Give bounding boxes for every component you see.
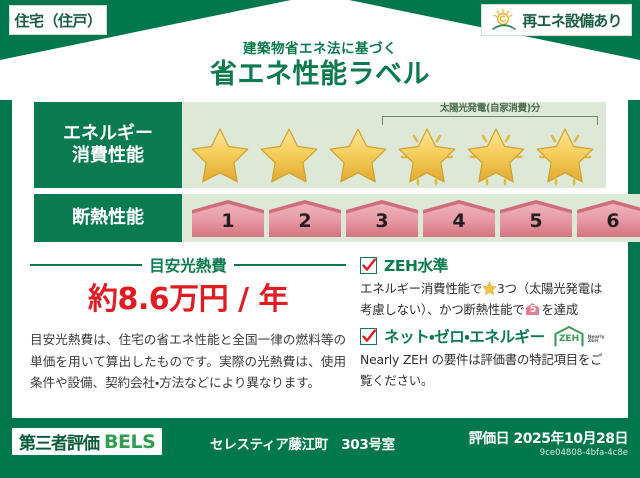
bels-logo: 第三者評価 BELS	[12, 428, 162, 455]
housing-type-badge: 住宅（住戸）	[9, 5, 107, 35]
zeh-mark-sub-line2: ZEH	[588, 339, 598, 344]
zeh-body-part1: エネルギー消費性能で	[360, 281, 482, 296]
evaluation-date: 評価日 2025年10月28日	[469, 428, 628, 448]
insulation-level-value: 2	[267, 198, 343, 238]
insulation-level-badge: 5	[498, 198, 574, 238]
label-title-sub: 建築物省エネ法に基づく	[0, 42, 640, 57]
energy-performance-label: 建築物省エネ法に基づく 省エネ性能ラベル 住宅（住戸） 再エネ設備あり	[0, 0, 640, 478]
zeh-mark-sublabel: Nearly ZEH	[588, 336, 605, 348]
zeh-body-part3: を達成	[541, 302, 578, 317]
checkmark-icon	[360, 328, 377, 345]
solar-annotation-label: 太陽光発電(自家消費)分	[382, 104, 598, 114]
bels-logo-jp: 第三者評価	[19, 429, 99, 454]
star-icon	[186, 124, 254, 186]
star-icon	[324, 124, 392, 186]
renewable-equipment-badge: 再エネ設備あり	[481, 4, 632, 36]
insulation-key-label: 断熱性能	[72, 207, 144, 230]
insulation-performance-row: 断熱性能 1 2 3 4	[34, 194, 606, 242]
solar-generation-annotation: 太陽光発電(自家消費)分	[382, 104, 598, 126]
energy-performance-row: エネルギー 消費性能 太陽光発電(自家消費)分	[34, 102, 606, 188]
insulation-scale: 1 2 3 4 5	[182, 194, 640, 242]
insulation-level-value: 6	[575, 198, 640, 238]
estimated-utility-cost-block: 目安光熱費 約8.6万円 / 年 目安光熱費は、住宅の省エネ性能と全国一律の燃料…	[30, 254, 346, 394]
energy-key-line2: 消費性能	[72, 145, 144, 168]
insulation-performance-key: 断熱性能	[34, 194, 182, 242]
insulation-level-value: 1	[190, 198, 266, 238]
svg-text:ZEH: ZEH	[559, 334, 579, 344]
insulation-level-badge: 3	[344, 198, 420, 238]
star-icon	[531, 124, 599, 186]
star-icon	[393, 124, 461, 186]
bels-logo-en: BELS	[104, 431, 155, 453]
cost-title: 目安光熱費	[149, 254, 227, 276]
insulation-level-value: 5	[498, 198, 574, 238]
criterion-zeh-standard-head: ZEH水準	[360, 254, 612, 276]
sun-solar-icon	[491, 8, 517, 32]
insulation-level-inline-value: 5	[525, 302, 540, 316]
cost-amount: 約8.6万円 / 年	[30, 283, 346, 316]
criterion-net-zero-energy-body: Nearly ZEH の要件は評価書の特記項目をご覧ください。	[360, 350, 612, 391]
energy-performance-value: 太陽光発電(自家消費)分	[182, 102, 606, 188]
energy-performance-key: エネルギー 消費性能	[34, 102, 182, 188]
insulation-level-inline-badge: 5	[525, 302, 540, 316]
criterion-zeh-standard-body: エネルギー消費性能で3つ（太陽光発電は考慮しない）、かつ断熱性能で5を達成	[360, 279, 612, 320]
property-name: セレスティア藤江町 303号室	[210, 433, 395, 453]
criterion-net-zero-energy-title: ネット・ゼロ・エネルギー	[384, 325, 545, 347]
label-title-block: 建築物省エネ法に基づく 省エネ性能ラベル	[0, 42, 640, 90]
star-icon	[462, 124, 530, 186]
insulation-level-badge: 4	[421, 198, 497, 238]
star-icon	[482, 281, 497, 296]
criterion-net-zero-energy-head: ネット・ゼロ・エネルギー ZEH Nearly ZEH	[360, 325, 612, 347]
insulation-level-badge: 6	[575, 198, 640, 238]
insulation-level-value: 4	[421, 198, 497, 238]
renewable-equipment-label: 再エネ設備あり	[522, 10, 621, 31]
cost-rule-left	[30, 264, 142, 266]
criteria-column: ZEH水準 エネルギー消費性能で3つ（太陽光発電は考慮しない）、かつ断熱性能で5…	[360, 254, 612, 396]
energy-star-rating	[186, 124, 599, 186]
column-divider	[352, 248, 353, 398]
cost-note: 目安光熱費は、住宅の省エネ性能と全国一律の燃料等の単価を用いて算出したものです。…	[30, 329, 346, 394]
housing-type-label: 住宅（住戸）	[14, 10, 101, 31]
criterion-net-zero-energy: ネット・ゼロ・エネルギー ZEH Nearly ZEH Nearly ZEH の…	[360, 325, 612, 391]
star-icon	[255, 124, 323, 186]
evaluation-id: 9ce04808-4bfa-4c8e	[540, 448, 628, 458]
label-title-main: 省エネ性能ラベル	[0, 59, 640, 90]
cost-rule-right	[234, 264, 346, 266]
criterion-zeh-standard: ZEH水準 エネルギー消費性能で3つ（太陽光発電は考慮しない）、かつ断熱性能で5…	[360, 254, 612, 320]
insulation-level-badge: 2	[267, 198, 343, 238]
cost-heading: 目安光熱費	[30, 254, 346, 276]
insulation-level-badge: 1	[190, 198, 266, 238]
insulation-level-value: 3	[344, 198, 420, 238]
zeh-house-icon: ZEH Nearly ZEH	[552, 325, 605, 347]
label-card: エネルギー 消費性能 太陽光発電(自家消費)分	[12, 88, 628, 418]
label-footer: 第三者評価 BELS セレスティア藤江町 303号室 評価日 2025年10月2…	[0, 424, 640, 478]
checkmark-icon	[360, 257, 377, 274]
criterion-zeh-standard-title: ZEH水準	[384, 254, 448, 276]
energy-key-line1: エネルギー	[63, 123, 153, 146]
